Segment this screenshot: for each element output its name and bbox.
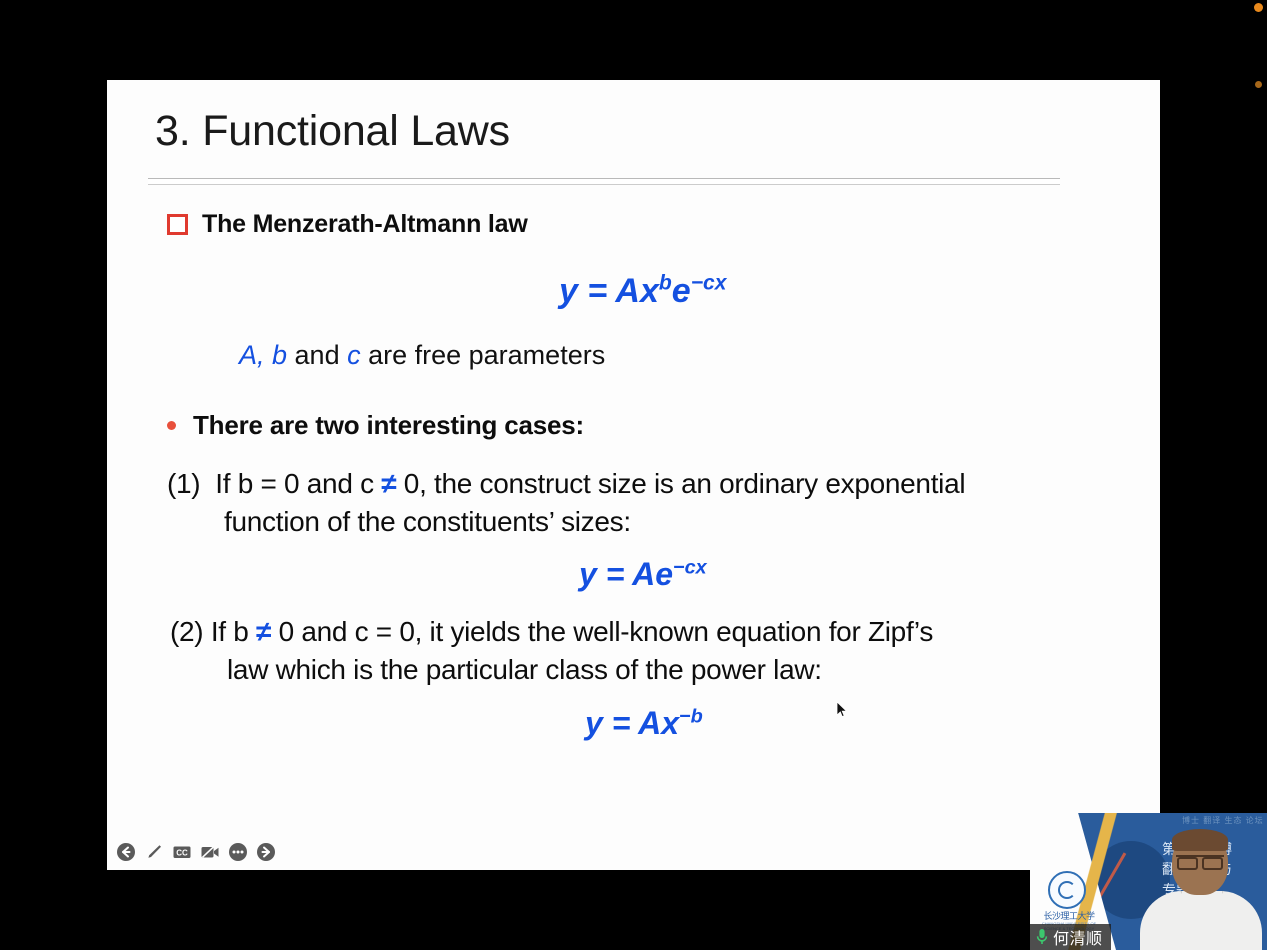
formula-menzerath-altmann: y = Axbe−cx [559,272,726,311]
item-2-line2: law which is the particular class of the… [170,651,1160,689]
pen-icon[interactable] [144,842,164,862]
recording-indicator-dot [1254,3,1263,12]
item-1-not-equal-symbol: ≠ [381,468,396,499]
formula-1-e: e [655,556,673,592]
parameter-c: c [347,340,361,370]
participant-name-bar: 何清顺 [1030,924,1111,950]
parameter-a-b: A, b [239,340,287,370]
previous-slide-icon[interactable] [116,842,136,862]
formula-power-law: y = Ax−b [585,705,703,742]
item-1-text-b: 0, the construct size is an ordinary exp… [396,468,965,499]
speaker-glasses [1176,855,1224,867]
participant-name: 何清顺 [1053,925,1103,949]
formula-2-lhs: y = [585,705,638,741]
svg-text:CC: CC [176,848,188,857]
next-slide-icon[interactable] [256,842,276,862]
cases-heading-label: There are two interesting cases: [193,410,584,441]
more-options-icon[interactable] [228,842,248,862]
formula-main-e-exponent: −cx [691,272,727,295]
speaker-video-feed [1134,813,1267,950]
formula-1-lhs: y = [579,556,632,592]
closed-captions-icon[interactable]: CC [172,842,192,862]
params-conjunction: and [287,340,347,370]
list-item: (2) If b ≠ 0 and c = 0, it yields the we… [170,613,1160,689]
formula-main-x-exponent: b [659,272,672,295]
params-tail: are free parameters [361,340,606,370]
formula-2-x-exponent: −b [679,705,703,727]
free-parameters-line: A, b and c are free parameters [239,340,605,371]
item-1-line2: function of the constituents’ sizes: [167,503,1157,541]
secondary-indicator-dot [1255,81,1262,88]
formula-1-e-exponent: −cx [673,556,707,578]
formula-2-A: A [638,705,661,741]
heading-row: The Menzerath-Altmann law [167,210,528,239]
formula-main-e: e [672,272,691,310]
speaker-hair [1172,829,1228,851]
item-2-number: (2) [170,613,203,651]
university-logo-icon [1048,871,1086,909]
formula-main-A: A [615,272,640,310]
presentation-toolbar[interactable]: CC [110,838,282,866]
item-1-number: (1) [167,465,200,503]
mouse-pointer-icon [836,701,848,719]
formula-2-x: x [661,705,679,741]
slide-canvas: 3. Functional Laws The Menzerath-Altmann… [107,80,1160,870]
formula-1-A: A [632,556,655,592]
formula-main-lhs: y = [559,272,615,310]
microphone-icon[interactable] [1036,928,1048,946]
cases-heading-row: There are two interesting cases: [167,410,584,441]
round-bullet-icon [167,421,176,430]
item-2-text-a: If b [211,616,256,647]
presentation-screen: 3. Functional Laws The Menzerath-Altmann… [0,0,1267,950]
item-1-text-a: If b = 0 and c [215,468,381,499]
formula-exponential: y = Ae−cx [579,556,707,593]
formula-main-x: x [640,272,659,310]
item-2-text-b: 0 and c = 0, it yields the well-known eq… [271,616,933,647]
list-item: (1) If b = 0 and c ≠ 0, the construct si… [167,465,1157,541]
slide-title: 3. Functional Laws [155,107,510,156]
item-2-not-equal-symbol: ≠ [256,616,271,647]
camera-off-icon[interactable] [200,842,220,862]
title-divider [148,178,1060,185]
square-bullet-icon [167,214,188,235]
participant-video-tile[interactable]: 博士 翻译 生态 论坛 第十八届博 翻译生态与 专题论坛 长沙理工大学 CHAN… [1030,813,1267,950]
heading-label: The Menzerath-Altmann law [202,210,528,239]
